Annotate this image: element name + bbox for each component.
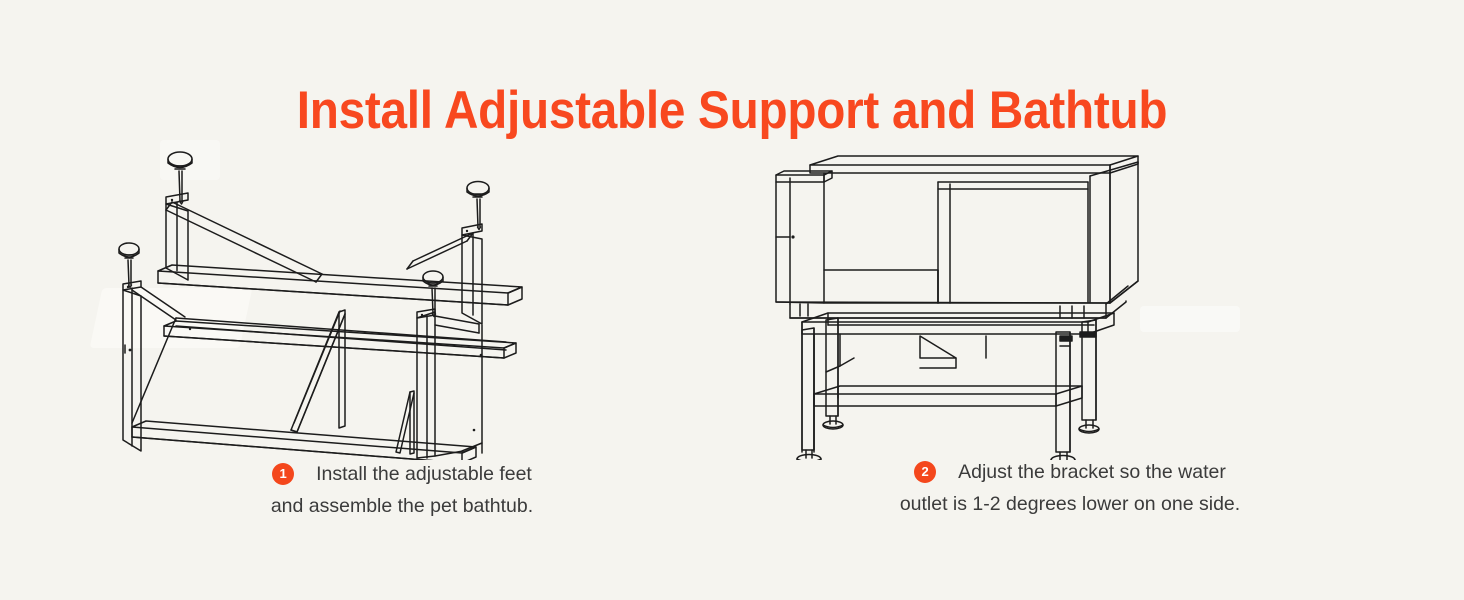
adjustable-foot-icon bbox=[119, 243, 139, 288]
stand-frame-illustration bbox=[92, 140, 592, 460]
stand-leg-front-left bbox=[802, 328, 814, 450]
step-1: 1Install the adjustable feet and assembl… bbox=[92, 140, 712, 540]
step-1-badge: 1 bbox=[272, 463, 294, 485]
stand-side-rail-left bbox=[132, 287, 185, 423]
step-1-caption: 1Install the adjustable feet and assembl… bbox=[92, 458, 712, 522]
step-1-caption-line2: and assemble the pet bathtub. bbox=[271, 495, 533, 517]
step-2-caption-line2: outlet is 1-2 degrees lower on one side. bbox=[900, 493, 1240, 515]
stand-top-frame bbox=[802, 313, 1114, 452]
steps-container: 1Install the adjustable feet and assembl… bbox=[0, 140, 1464, 540]
instruction-panel: Install Adjustable Support and Bathtub bbox=[0, 0, 1464, 600]
stand-diagonal-brace-right bbox=[407, 233, 473, 269]
stand-bottom-rail bbox=[132, 421, 476, 460]
bathtub-body bbox=[776, 156, 1138, 318]
stand-top-rail bbox=[158, 265, 522, 305]
leveling-foot-icon bbox=[823, 416, 843, 429]
adjustable-foot-icon bbox=[467, 182, 489, 230]
step-2-badge: 2 bbox=[914, 461, 936, 483]
stand-top-cross-brace bbox=[826, 334, 986, 372]
bathtub-on-stand-illustration bbox=[760, 140, 1180, 460]
stand-lower-rail bbox=[814, 386, 1082, 406]
leveling-foot-icon bbox=[1079, 420, 1099, 433]
step-2-caption-line1: Adjust the bracket so the water bbox=[958, 461, 1226, 483]
stand-leg-back-right bbox=[462, 224, 482, 324]
page-title: Install Adjustable Support and Bathtub bbox=[73, 80, 1391, 142]
step-2-caption: 2Adjust the bracket so the water outlet … bbox=[760, 456, 1380, 520]
stand-leg-front-right bbox=[417, 309, 435, 458]
step-1-caption-line1: Install the adjustable feet bbox=[316, 463, 532, 485]
stand-right-bracket bbox=[396, 391, 414, 454]
stand-leg-front-left bbox=[123, 281, 141, 451]
step-2: 2Adjust the bracket so the water outlet … bbox=[760, 140, 1380, 540]
